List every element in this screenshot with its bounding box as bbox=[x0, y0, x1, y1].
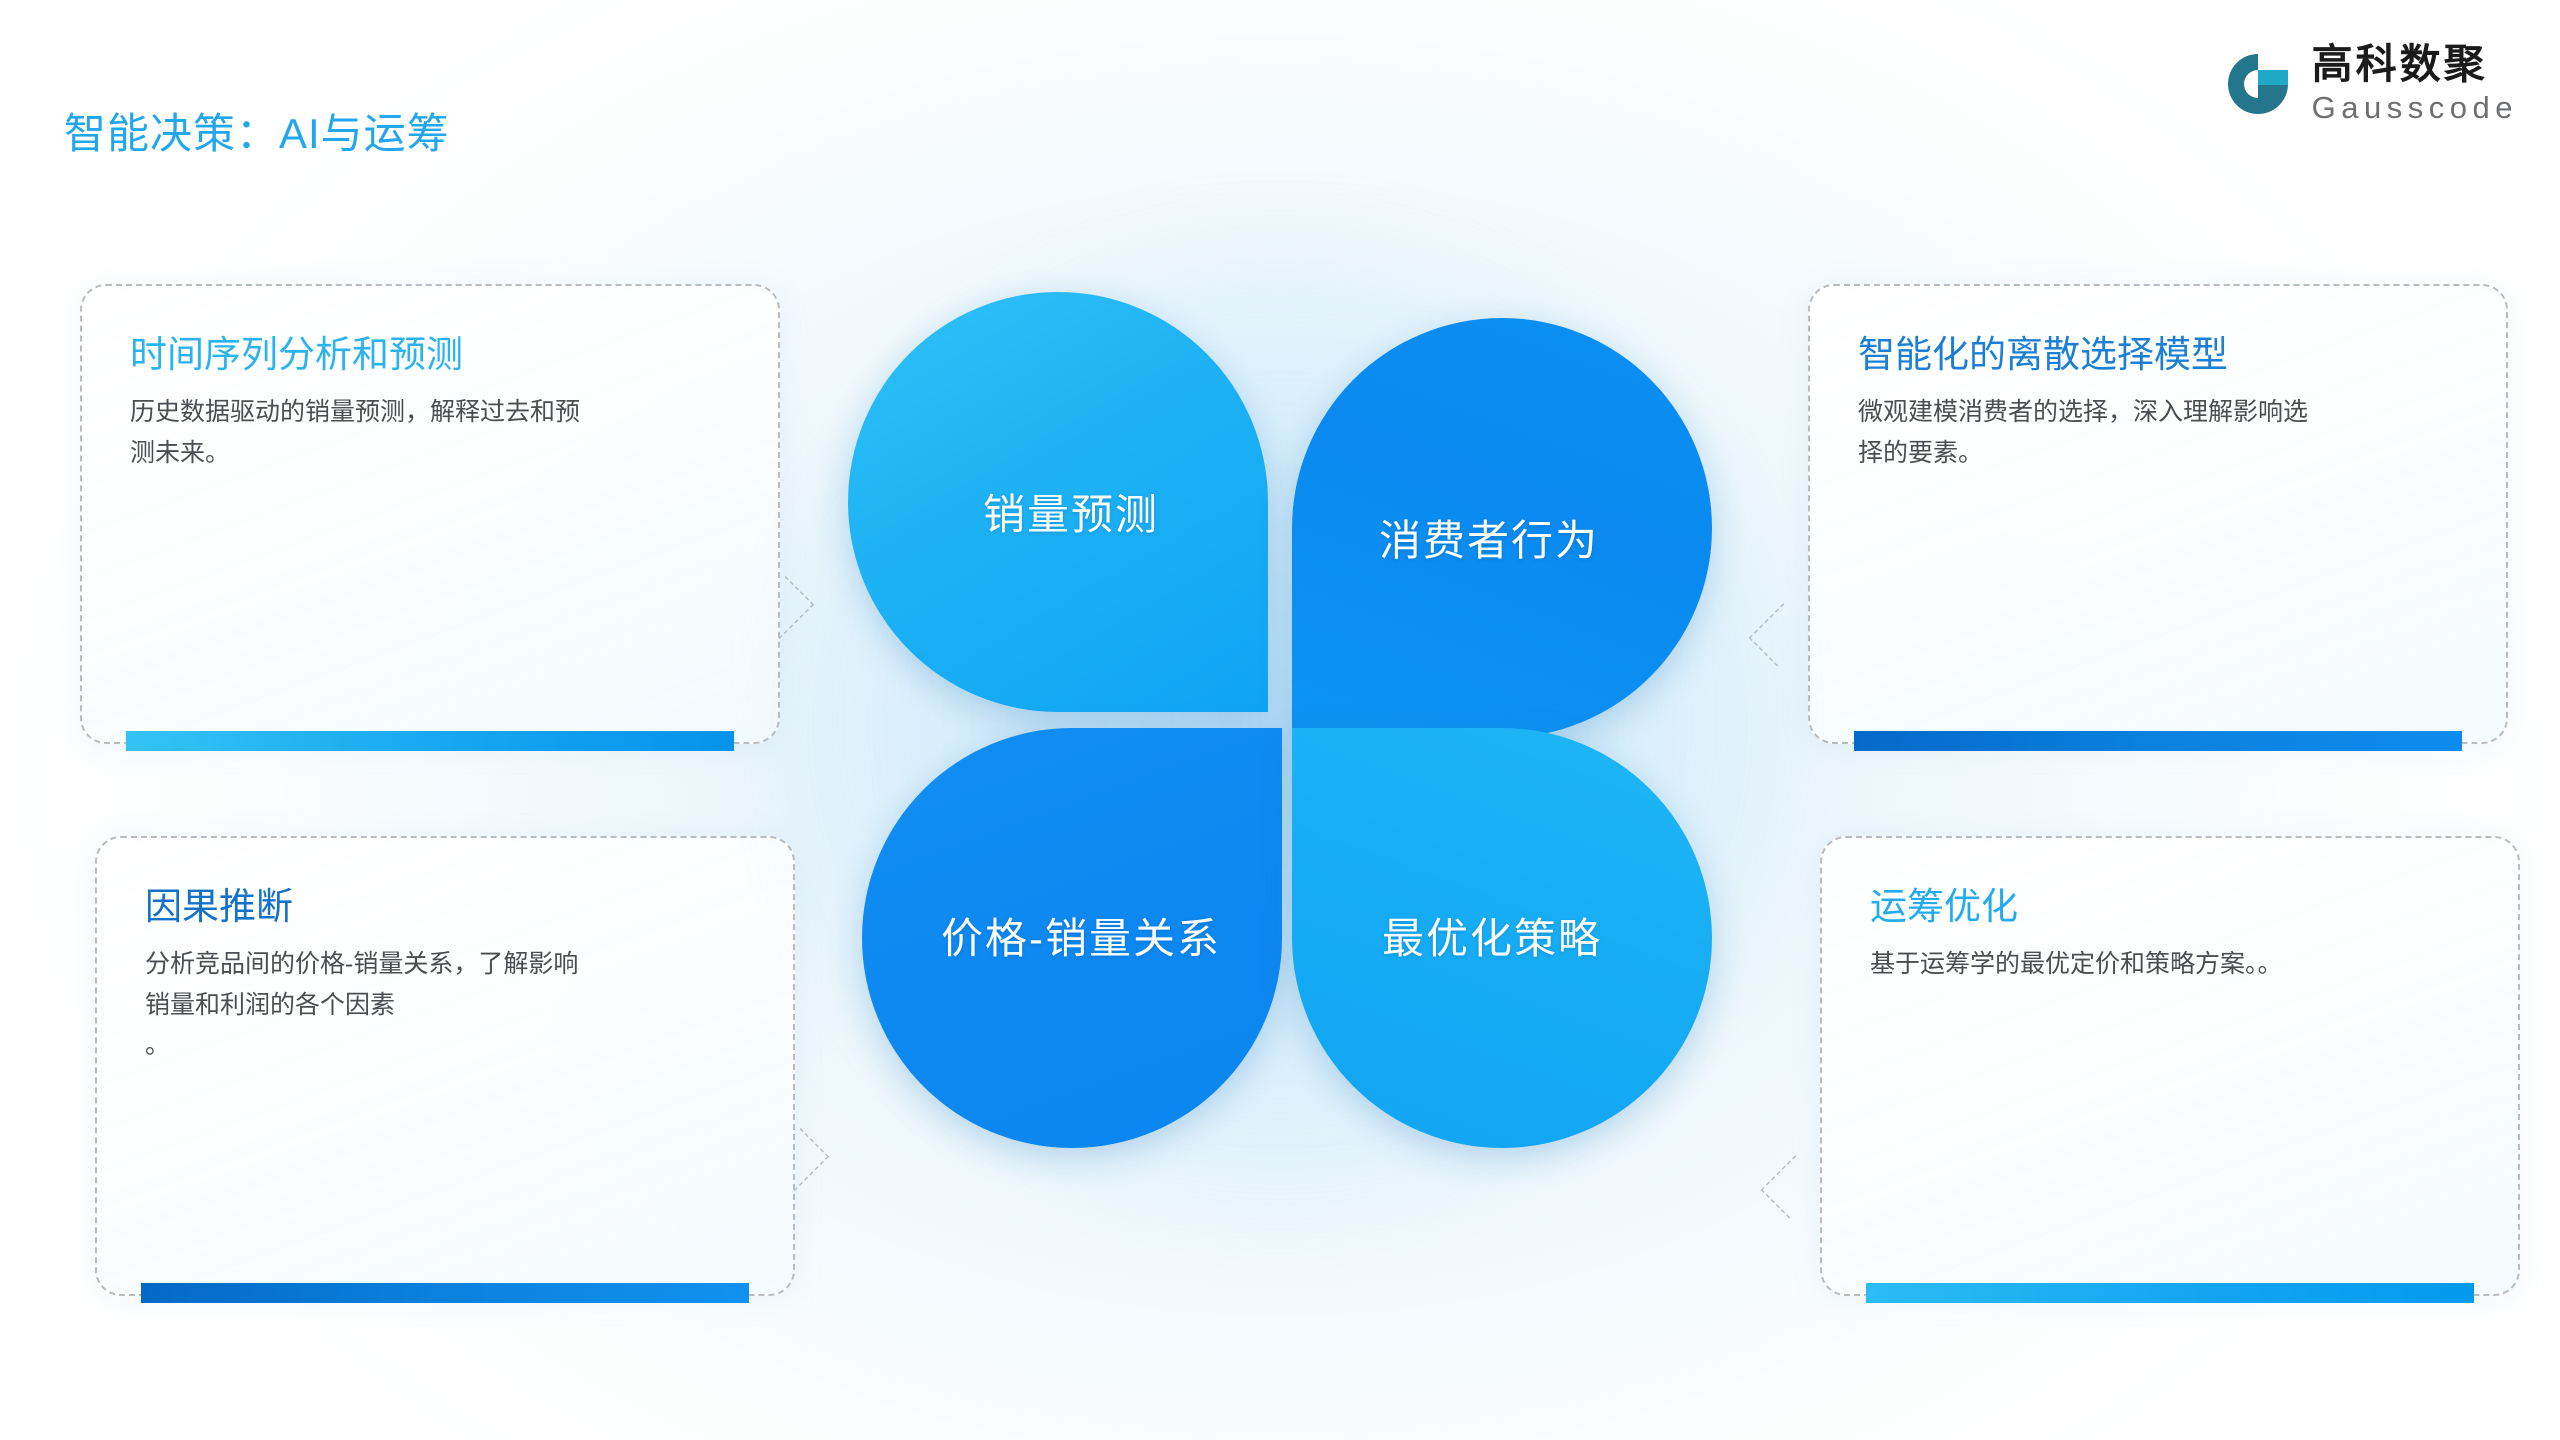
petal-label: 销量预测 bbox=[983, 481, 1159, 542]
card-title: 运筹优化 bbox=[1870, 884, 2476, 930]
card-title: 智能化的离散选择模型 bbox=[1858, 332, 2464, 378]
petal-price-sales-relation[interactable]: 价格-销量关系 bbox=[862, 728, 1282, 1148]
card-time-series[interactable]: 时间序列分析和预测 历史数据驱动的销量预测，解释过去和预 测未来。 bbox=[80, 284, 780, 744]
brand-logo: 高科数聚 Gausscode bbox=[2222, 44, 2518, 123]
gausscode-logo-icon bbox=[2222, 48, 2294, 120]
petal-sales-forecast[interactable]: 销量预测 bbox=[848, 292, 1268, 712]
card-content: 运筹优化 基于运筹学的最优定价和策略方案。。 bbox=[1870, 884, 2476, 985]
diagram-glow bbox=[738, 182, 1822, 1258]
petal-label: 价格-销量关系 bbox=[941, 905, 1221, 966]
page-header: 智能决策：AI与运筹 高科数聚 Gausscode bbox=[0, 0, 2560, 190]
petal-label: 最优化策略 bbox=[1382, 905, 1602, 966]
card-causal-inference[interactable]: 因果推断 分析竞品间的价格-销量关系，了解影响 销量和利润的各个因素 。 bbox=[95, 836, 795, 1296]
card-accent-bar bbox=[126, 731, 734, 751]
card-content: 因果推断 分析竞品间的价格-销量关系，了解影响 销量和利润的各个因素 。 bbox=[145, 884, 751, 1066]
card-accent-bar bbox=[1866, 1283, 2474, 1303]
card-body: 微观建模消费者的选择，深入理解影响选 择的要素。 bbox=[1858, 392, 2464, 473]
card-title: 因果推断 bbox=[145, 884, 751, 930]
logo-name-cn: 高科数聚 bbox=[2312, 44, 2518, 85]
card-content: 时间序列分析和预测 历史数据驱动的销量预测，解释过去和预 测未来。 bbox=[130, 332, 736, 473]
card-body: 分析竞品间的价格-销量关系，了解影响 销量和利润的各个因素 。 bbox=[145, 944, 751, 1066]
card-operations-research[interactable]: 运筹优化 基于运筹学的最优定价和策略方案。。 bbox=[1820, 836, 2520, 1296]
page-title: 智能决策：AI与运筹 bbox=[64, 100, 450, 161]
petal-consumer-behavior[interactable]: 消费者行为 bbox=[1292, 318, 1712, 738]
card-accent-bar bbox=[1854, 731, 2462, 751]
card-body: 历史数据驱动的销量预测，解释过去和预 测未来。 bbox=[130, 392, 736, 473]
petal-diagram: 销量预测 消费者行为 价格-销量关系 最优化策略 bbox=[848, 292, 1712, 1148]
card-content: 智能化的离散选择模型 微观建模消费者的选择，深入理解影响选 择的要素。 bbox=[1858, 332, 2464, 473]
card-body: 基于运筹学的最优定价和策略方案。。 bbox=[1870, 944, 2476, 985]
logo-name-en: Gausscode bbox=[2312, 92, 2518, 123]
card-discrete-choice[interactable]: 智能化的离散选择模型 微观建模消费者的选择，深入理解影响选 择的要素。 bbox=[1808, 284, 2508, 744]
logo-wordmark: 高科数聚 Gausscode bbox=[2312, 44, 2518, 123]
card-accent-bar bbox=[141, 1283, 749, 1303]
petal-optimal-strategy[interactable]: 最优化策略 bbox=[1292, 728, 1712, 1148]
card-title: 时间序列分析和预测 bbox=[130, 332, 736, 378]
petal-label: 消费者行为 bbox=[1379, 507, 1599, 568]
